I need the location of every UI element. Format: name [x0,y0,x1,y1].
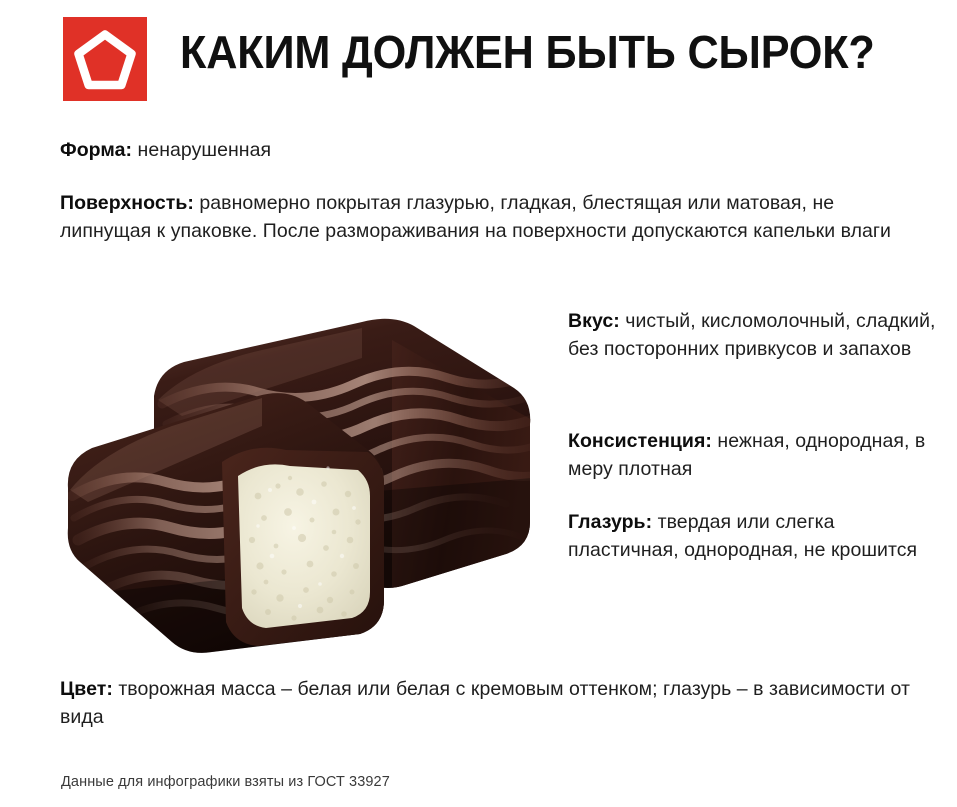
spec-forma-label: Форма: [60,139,132,161]
spec-forma-value: ненарушенная [138,139,272,161]
spec-glazur-label: Глазурь: [568,511,652,533]
infographic-page: КАКИМ ДОЛЖЕН БЫТЬ СЫРОК? Форма: ненаруше… [0,0,957,807]
page-title: КАКИМ ДОЛЖЕН БЫТЬ СЫРОК? [180,24,894,80]
spec-poverhnost-label: Поверхность: [60,192,194,214]
spec-cvet: Цвет: творожная масса – белая или белая … [60,676,920,731]
spec-konsistenciya: Консистенция: нежная, однородная, в меру… [568,428,948,483]
pentagon-logo-icon [63,17,147,101]
spec-vkus-value: чистый, кисломолочный, сладкий, без пост… [568,310,936,360]
spec-poverhnost: Поверхность: равномерно покрытая глазурь… [60,190,900,245]
spec-forma: Форма: ненарушенная [60,137,660,165]
header: КАКИМ ДОЛЖЕН БЫТЬ СЫРОК? [0,0,957,118]
spec-vkus-label: Вкус: [568,310,620,332]
spec-konsistenciya-label: Консистенция: [568,430,712,452]
spec-vkus: Вкус: чистый, кисломолочный, сладкий, бе… [568,308,948,363]
source-footnote: Данные для инфографики взяты из ГОСТ 339… [61,772,390,792]
spec-cvet-label: Цвет: [60,678,113,700]
spec-cvet-value: творожная масса – белая или белая с крем… [60,678,910,728]
spec-glazur: Глазурь: твердая или слегка пластичная, … [568,509,948,564]
product-photo [62,300,542,660]
